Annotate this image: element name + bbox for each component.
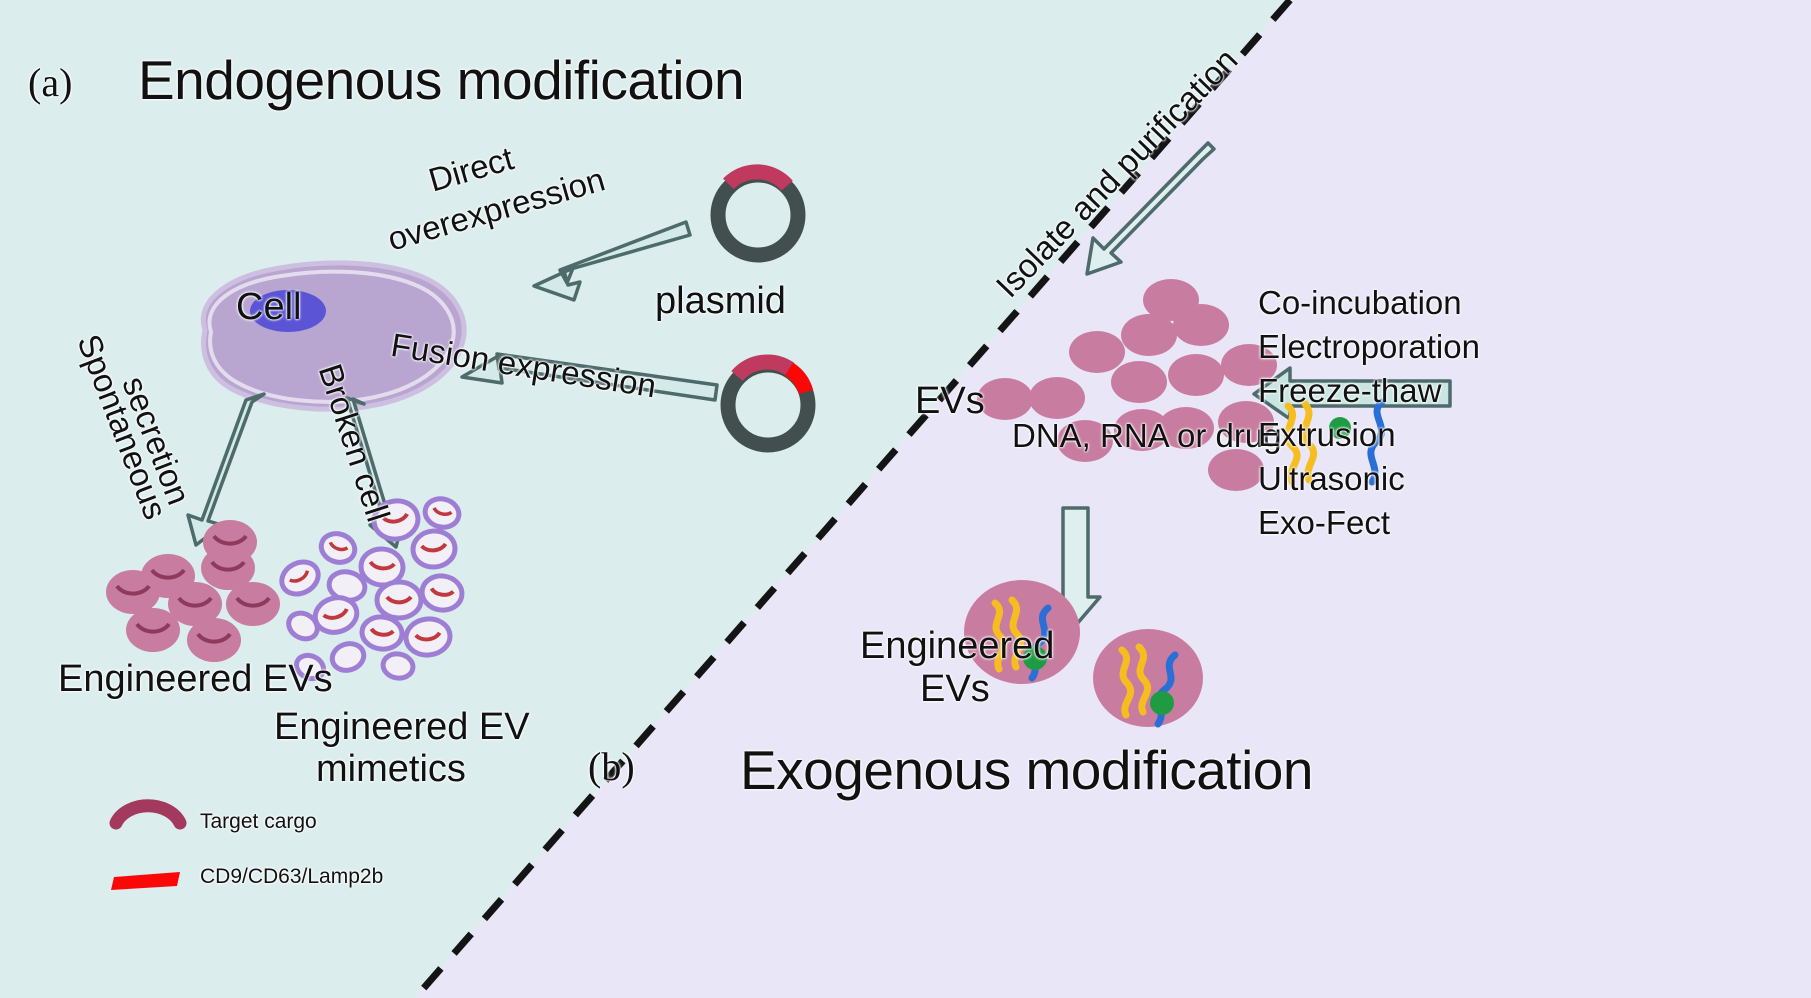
figure-canvas: (a) Endogenous modification Direct overe… [0, 0, 1811, 998]
method-extrusion: Extrusion [1258, 418, 1396, 452]
cargo-label: DNA, RNA or drug [1012, 419, 1282, 453]
method-electroporation: Electroporation [1258, 330, 1480, 364]
legend-label-membrane-proteins: CD9/CD63/Lamp2b [200, 866, 383, 888]
method-co-incubation: Co-incubation [1258, 286, 1462, 320]
method-exo-fect: Exo-Fect [1258, 506, 1390, 540]
ev-mimetics-label-line1: Engineered EV [274, 708, 530, 748]
panel-b-title: Exogenous modification [740, 742, 1313, 799]
legend-label-target-cargo: Target cargo [200, 811, 317, 833]
engineered-evs-label-b-line2: EVs [920, 670, 990, 710]
engineered-evs-label-b-line1: Engineered [860, 627, 1054, 667]
cell-label: Cell [236, 288, 301, 328]
panel-b-tag: (b) [588, 746, 635, 788]
engineered-evs-label-a: Engineered EVs [58, 660, 333, 700]
method-ultrasonic: Ultrasonic [1258, 462, 1405, 496]
panel-a-tag: (a) [28, 62, 72, 104]
graphics-layer [0, 0, 1811, 998]
evs-label: EVs [915, 382, 985, 422]
plasmid-label: plasmid [655, 282, 786, 322]
ev-mimetics-label-line2: mimetics [316, 750, 466, 790]
engineered-ev-2 [1093, 629, 1203, 727]
method-freeze-thaw: Freeze-thaw [1258, 374, 1441, 408]
panel-a-title: Endogenous modification [138, 52, 744, 109]
